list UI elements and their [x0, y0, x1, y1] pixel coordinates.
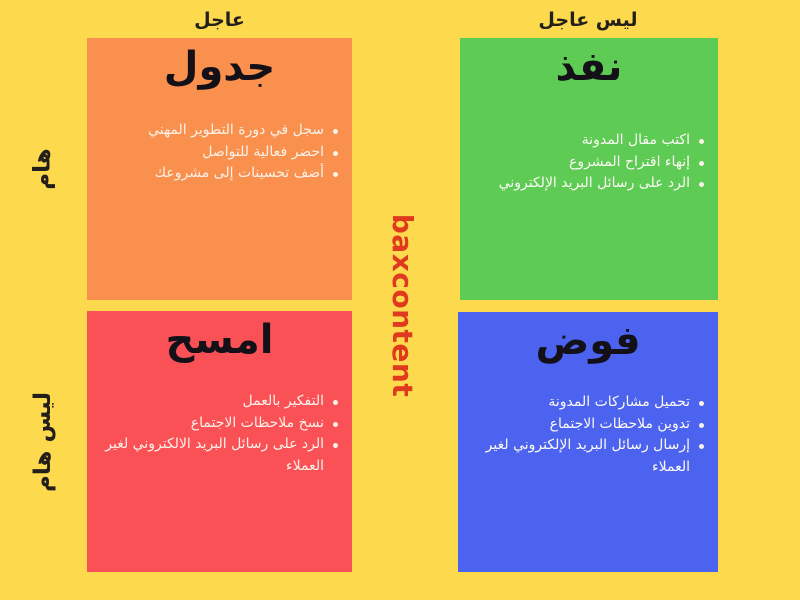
column-header-not-urgent: ليس عاجل	[458, 6, 718, 34]
quadrant-schedule-title: جدول	[99, 44, 340, 90]
quadrant-delegate-list: تحميل مشاركات المدونة تدوين ملاحظات الاج…	[470, 392, 706, 479]
quadrant-do-list: اكتب مقال المدونة إنهاء اقتراح المشروع ا…	[472, 130, 706, 195]
quadrant-delete-list: التفكير بالعمل نسخ ملاحظات الاجتماع الرد…	[99, 391, 340, 478]
list-item: اكتب مقال المدونة	[472, 130, 706, 152]
list-item: إرسال رسائل البريد الإلكتروني لغير العمل…	[470, 435, 706, 478]
list-item: تحميل مشاركات المدونة	[470, 392, 706, 414]
row-header-not-important: ليس هام	[0, 311, 86, 573]
row-header-important: هام	[0, 38, 86, 300]
quadrant-delete-title: امسح	[99, 317, 340, 363]
quadrant-delegate: فوض تحميل مشاركات المدونة تدوين ملاحظات …	[458, 312, 718, 572]
quadrant-do: نفذ اكتب مقال المدونة إنهاء اقتراح المشر…	[460, 38, 718, 300]
row-header-important-label: هام	[30, 148, 56, 189]
quadrant-delete: امسح التفكير بالعمل نسخ ملاحظات الاجتماع…	[87, 311, 352, 572]
list-item: الرد على رسائل البريد الالكتروني لغير ال…	[99, 434, 340, 477]
watermark-text: baxcontent	[387, 213, 420, 396]
list-item: نسخ ملاحظات الاجتماع	[99, 413, 340, 435]
quadrant-delegate-title: فوض	[470, 318, 706, 364]
list-item: سجل في دورة التطوير المهني	[99, 120, 340, 142]
quadrant-do-title: نفذ	[472, 44, 706, 90]
list-item: تدوين ملاحظات الاجتماع	[470, 414, 706, 436]
list-item: أضف تحسينات إلى مشروعك	[99, 163, 340, 185]
list-item: الرد على رسائل البريد الإلكتروني	[472, 173, 706, 195]
eisenhower-matrix: عاجل ليس عاجل هام ليس هام baxcontent جدو…	[0, 0, 800, 600]
list-item: إنهاء اقتراح المشروع	[472, 152, 706, 174]
column-header-urgent: عاجل	[87, 6, 352, 34]
row-header-not-important-label: ليس هام	[30, 392, 56, 492]
quadrant-schedule-list: سجل في دورة التطوير المهني احضر فعالية ل…	[99, 120, 340, 185]
list-item: التفكير بالعمل	[99, 391, 340, 413]
watermark: baxcontent	[368, 175, 438, 435]
list-item: احضر فعالية للتواصل	[99, 142, 340, 164]
quadrant-schedule: جدول سجل في دورة التطوير المهني احضر فعا…	[87, 38, 352, 300]
